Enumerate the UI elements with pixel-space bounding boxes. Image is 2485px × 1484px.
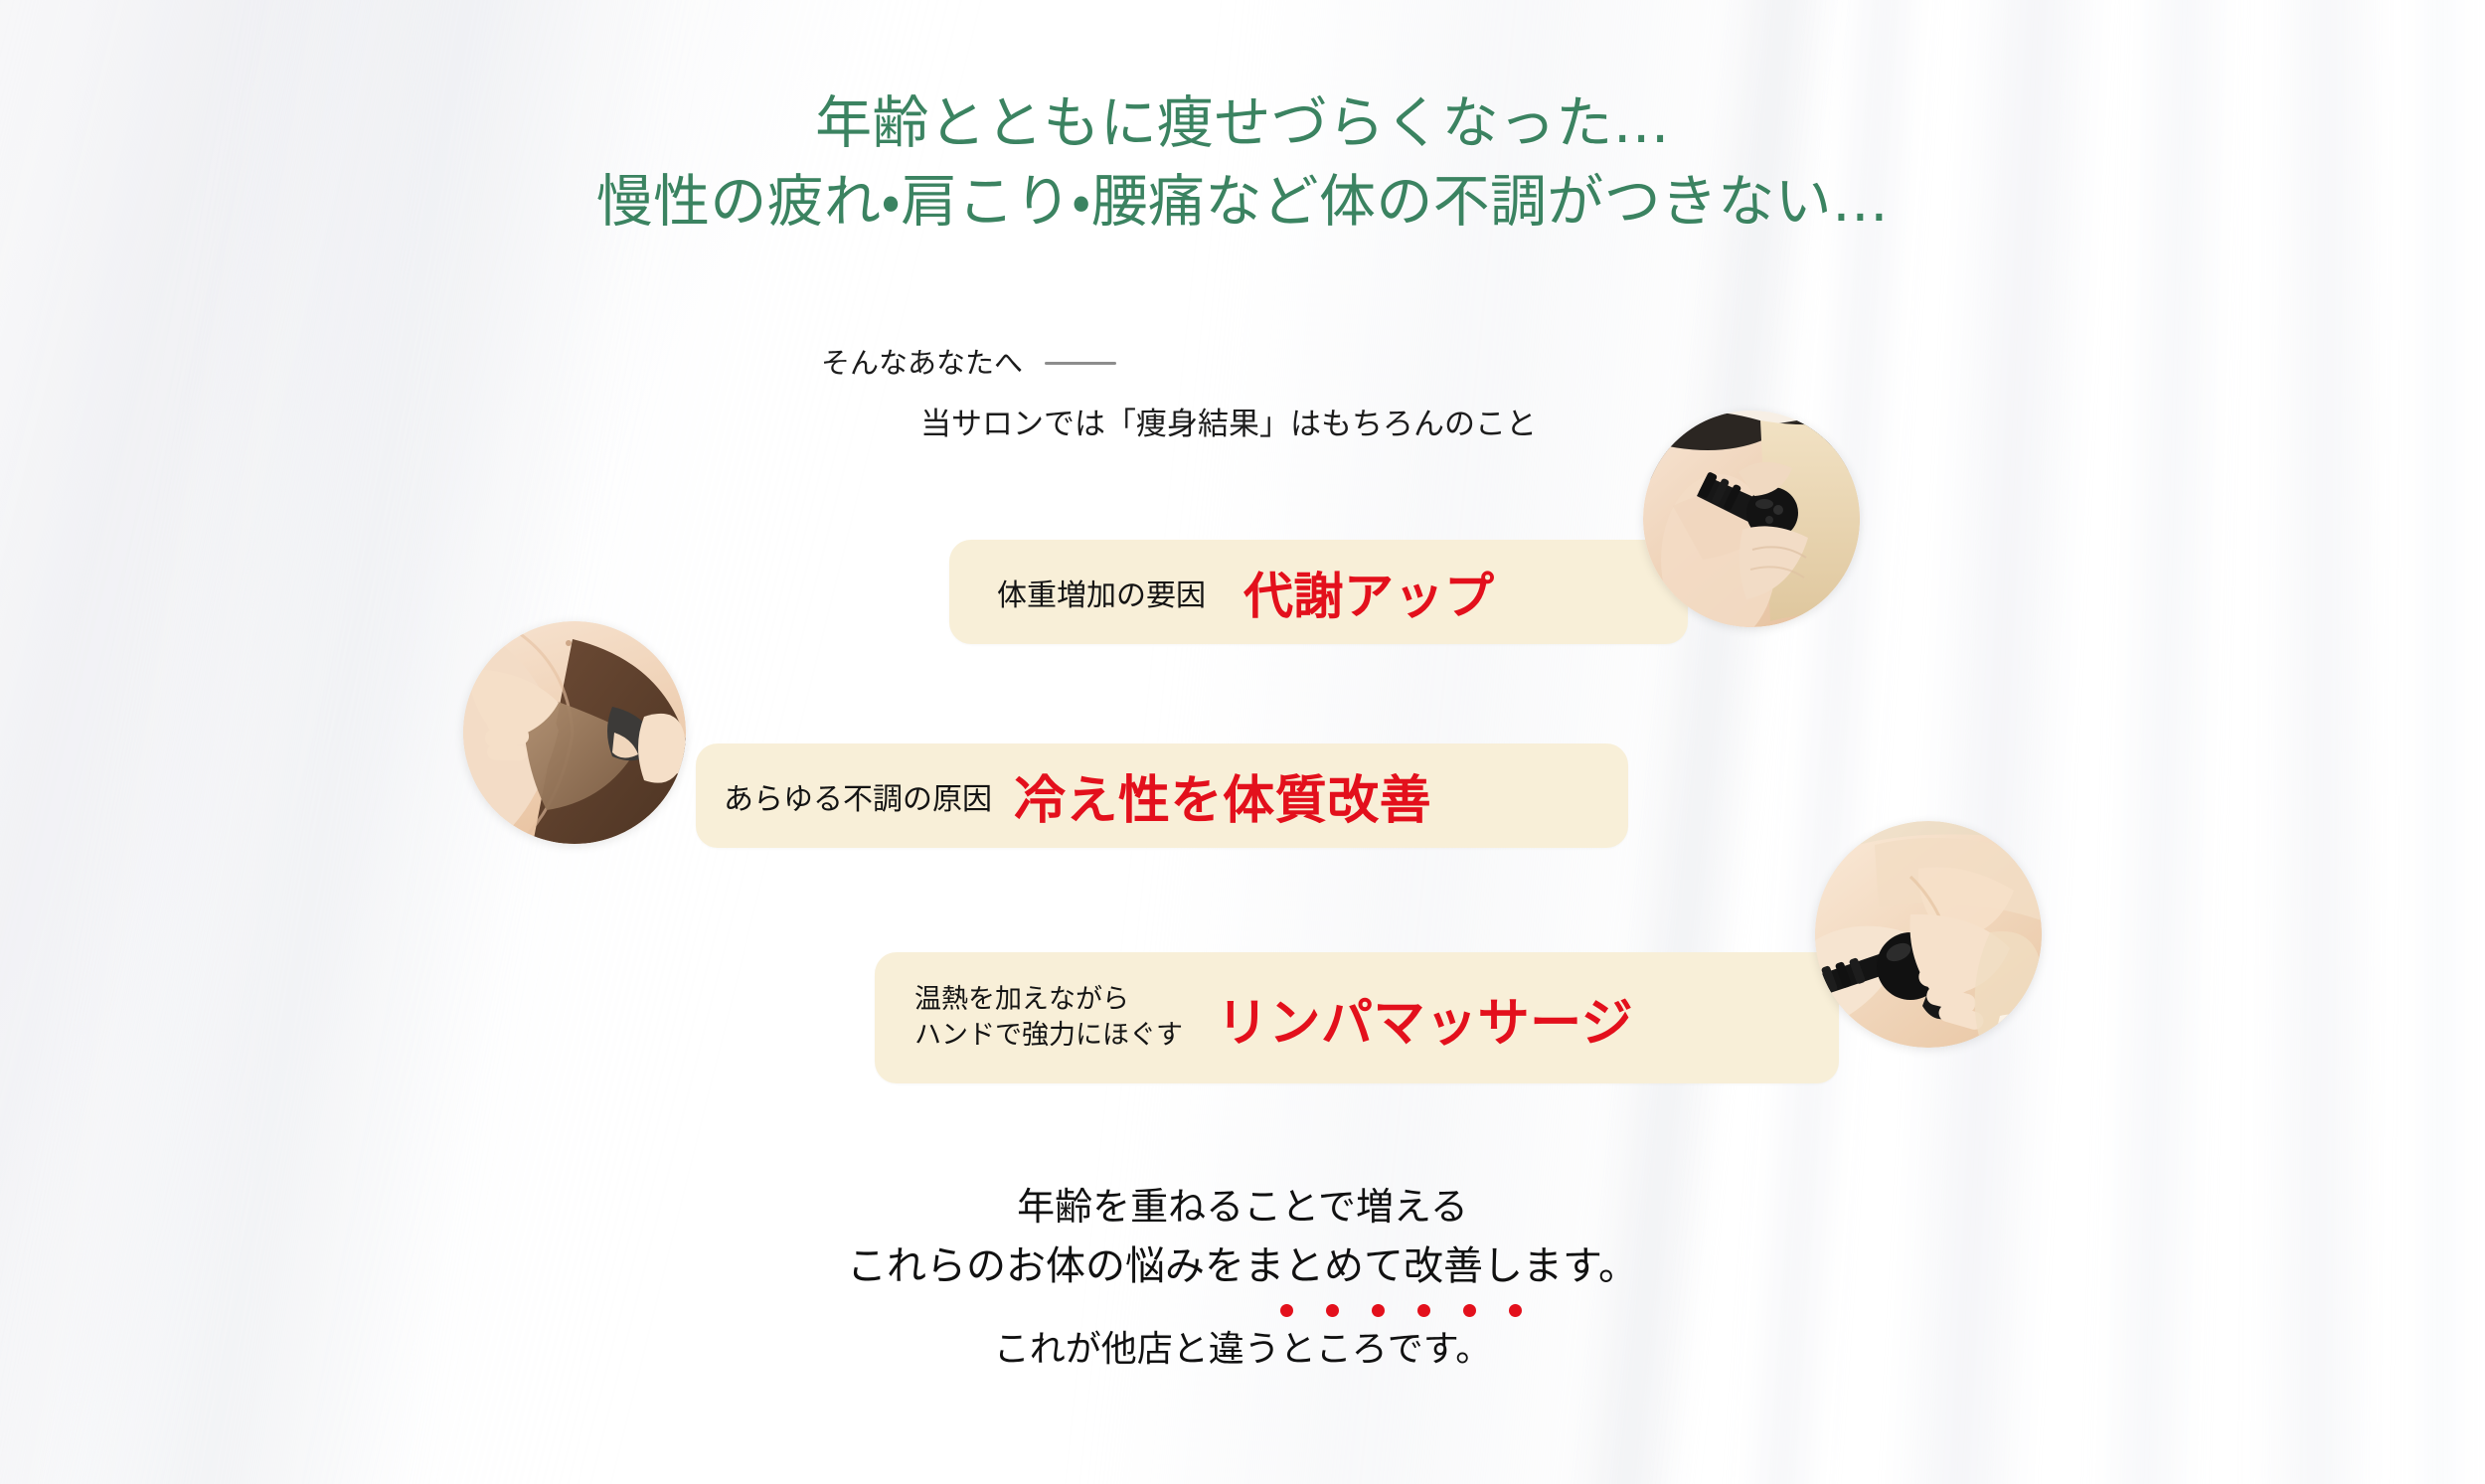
headline-line-2: 慢性の疲れ・肩こり・腰痛など体の不調がつきない… (0, 166, 2485, 239)
hero-section: 年齢とともに痩せづらくなった… 慢性の疲れ・肩こり・腰痛など体の不調がつきない…… (0, 0, 2485, 1484)
intro-lead-row: そんなあなたへ (821, 342, 1537, 386)
closing-block: 年齢を重ねることで増える これらのお体の悩みをまとめて改善します。 これが他店と… (0, 1179, 2485, 1377)
benefit-photo-metabolism (1643, 411, 1860, 627)
emphasis-dot (1463, 1304, 1476, 1317)
benefit-photo-coldness (463, 621, 686, 844)
emphasis-dot (1372, 1304, 1385, 1317)
emphasis-dot (1326, 1304, 1339, 1317)
headline-line-1: 年齢とともに痩せづらくなった… (0, 87, 2485, 160)
closing-line-2: これらのお体の悩みをまとめて改善します。 (0, 1237, 2485, 1297)
emphasis-dot (1280, 1304, 1293, 1317)
benefit-photo-lymph-massage (1815, 821, 2042, 1048)
closing-line-3: これが他店と違うところです。 (0, 1323, 2485, 1378)
benefit-sub-label: あらゆる不調の原因 (724, 774, 992, 818)
intro-lead-text: そんなあなたへ (821, 342, 1023, 386)
benefit-sub-label: 温熱を加えながら ハンドで強力にほぐす (914, 982, 1183, 1055)
emphasis-dot (1509, 1304, 1522, 1317)
benefit-pill-coldness: あらゆる不調の原因 冷え性を体質改善 (696, 743, 1628, 848)
benefit-pill-lymph-massage: 温熱を加えながら ハンドで強力にほぐす リンパマッサージ (875, 952, 1839, 1083)
benefit-headline-label: リンパマッサージ (1217, 981, 1633, 1056)
horizontal-rule-icon (1045, 362, 1116, 365)
emphasis-dot (1417, 1304, 1430, 1317)
emphasis-dots (1280, 1304, 1522, 1317)
closing-line-1: 年齢を重ねることで増える (0, 1179, 2485, 1237)
intro-block: そんなあなたへ 当サロンでは「痩身結果」はもちろんのこと (821, 342, 1537, 447)
benefit-sub-label: 体重増加の要因 (997, 571, 1206, 614)
page-title: 年齢とともに痩せづらくなった… 慢性の疲れ・肩こり・腰痛など体の不調がつきない… (0, 87, 2485, 239)
benefit-pill-metabolism: 体重増加の要因 代謝アップ (949, 540, 1688, 644)
intro-body-text: 当サロンでは「痩身結果」はもちろんのこと (920, 402, 1537, 448)
benefit-headline-label: 冷え性を体質改善 (1014, 758, 1431, 833)
benefit-headline-label: 代謝アップ (1243, 557, 1495, 628)
